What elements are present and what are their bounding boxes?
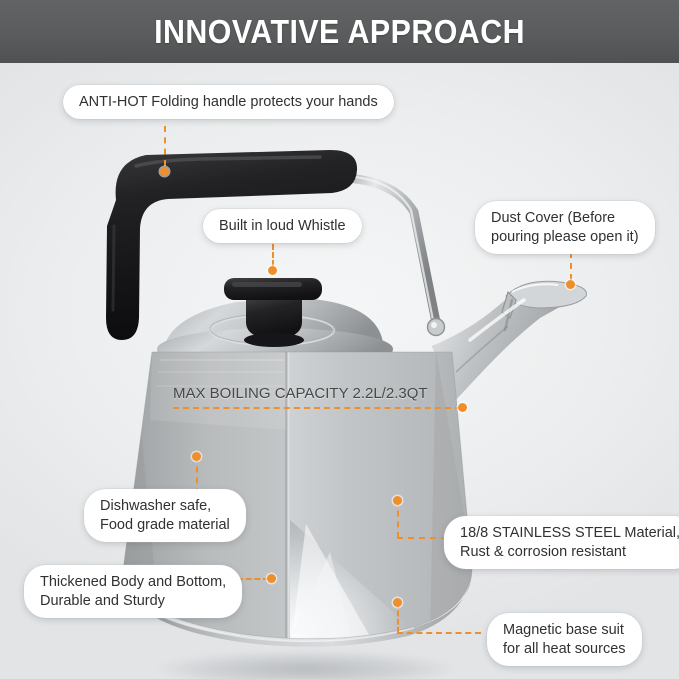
callout-magnetic-base[interactable]: Magnetic base suit for all heat sources (487, 613, 642, 666)
callout-thickened-body[interactable]: Thickened Body and Bottom, Durable and S… (24, 565, 242, 618)
connector-thickened-body (237, 578, 269, 580)
connector-dust-cover (570, 252, 572, 280)
callout-dust-cover[interactable]: Dust Cover (Before pouring please open i… (475, 201, 655, 254)
connector-anti-hot-handle (164, 126, 166, 166)
connector-magnetic-base-horizontal (397, 632, 481, 634)
connector-dot-dishwasher-safe (192, 452, 201, 461)
connector-dot-anti-hot-handle (160, 167, 169, 176)
connector-stainless-steel-horizontal (397, 537, 447, 539)
connector-dot-max-capacity (458, 403, 467, 412)
callout-anti-hot-handle[interactable]: ANTI-HOT Folding handle protects your ha… (63, 85, 394, 119)
page-title: INNOVATIVE APPROACH (154, 13, 525, 51)
callout-whistle[interactable]: Built in loud Whistle (203, 209, 362, 243)
connector-max-capacity (173, 407, 461, 409)
callout-dishwasher-safe[interactable]: Dishwasher safe, Food grade material (84, 489, 246, 542)
connector-dot-magnetic-base (393, 598, 402, 607)
connector-stainless-steel-vertical (397, 500, 399, 538)
callout-stainless-steel[interactable]: 18/8 STAINLESS STEEL Material, Rust & co… (444, 516, 679, 569)
callout-max-capacity: MAX BOILING CAPACITY 2.2L/2.3QT (173, 385, 428, 402)
connector-dot-whistle (268, 266, 277, 275)
product-shadow (105, 645, 505, 679)
connector-whistle (272, 244, 274, 266)
header-banner: INNOVATIVE APPROACH (0, 0, 679, 63)
connector-dot-stainless-steel (393, 496, 402, 505)
connector-dot-thickened-body (267, 574, 276, 583)
infographic-page: INNOVATIVE APPROACH (0, 0, 679, 679)
connector-dot-dust-cover (566, 280, 575, 289)
